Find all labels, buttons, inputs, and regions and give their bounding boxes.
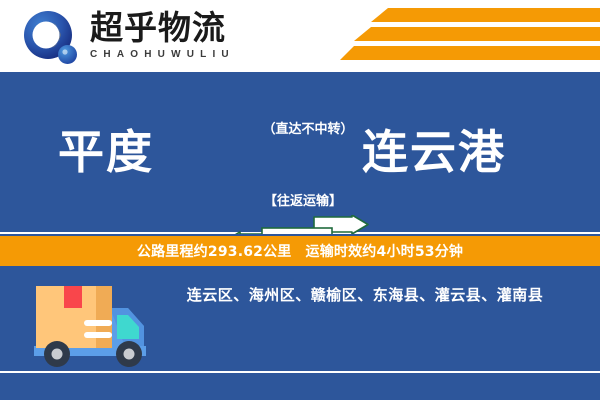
distance-text: 公路里程约293.62公里	[137, 241, 292, 261]
route-panel: 平度 （直达不中转） 【往返运输】 连云港	[0, 72, 600, 232]
origin-city: 平度	[58, 126, 154, 178]
logistics-route-banner: 超乎物流 CHAOHUWULIU 平度 （直达不中转） 【往返运输】 连云港	[0, 0, 600, 400]
orange-speed-stripes-icon	[340, 0, 600, 72]
circle-q-crescent-logo-icon	[22, 10, 80, 68]
brand-name-en: CHAOHUWULIU	[90, 48, 280, 62]
brand-name-cn: 超乎物流	[90, 10, 280, 46]
brand-name-block: 超乎物流 CHAOHUWULIU	[90, 10, 280, 62]
roundtrip-note: 【往返运输】	[238, 190, 368, 209]
destination-city: 连云港	[362, 126, 506, 178]
brand-logo: 超乎物流 CHAOHUWULIU	[22, 8, 282, 66]
delivery-truck-icon	[24, 278, 156, 372]
route-info-bar: 公路里程约293.62公里 运输时效约4小时53分钟	[0, 234, 600, 266]
coverage-areas-text: 连云区、海州区、赣榆区、东海县、灌云县、灌南县	[140, 284, 590, 305]
duration-text: 运输时效约4小时53分钟	[306, 241, 464, 261]
banner-header: 超乎物流 CHAOHUWULIU	[0, 0, 600, 72]
direct-shipping-note: （直达不中转）	[243, 118, 373, 137]
ground-divider	[0, 371, 600, 373]
